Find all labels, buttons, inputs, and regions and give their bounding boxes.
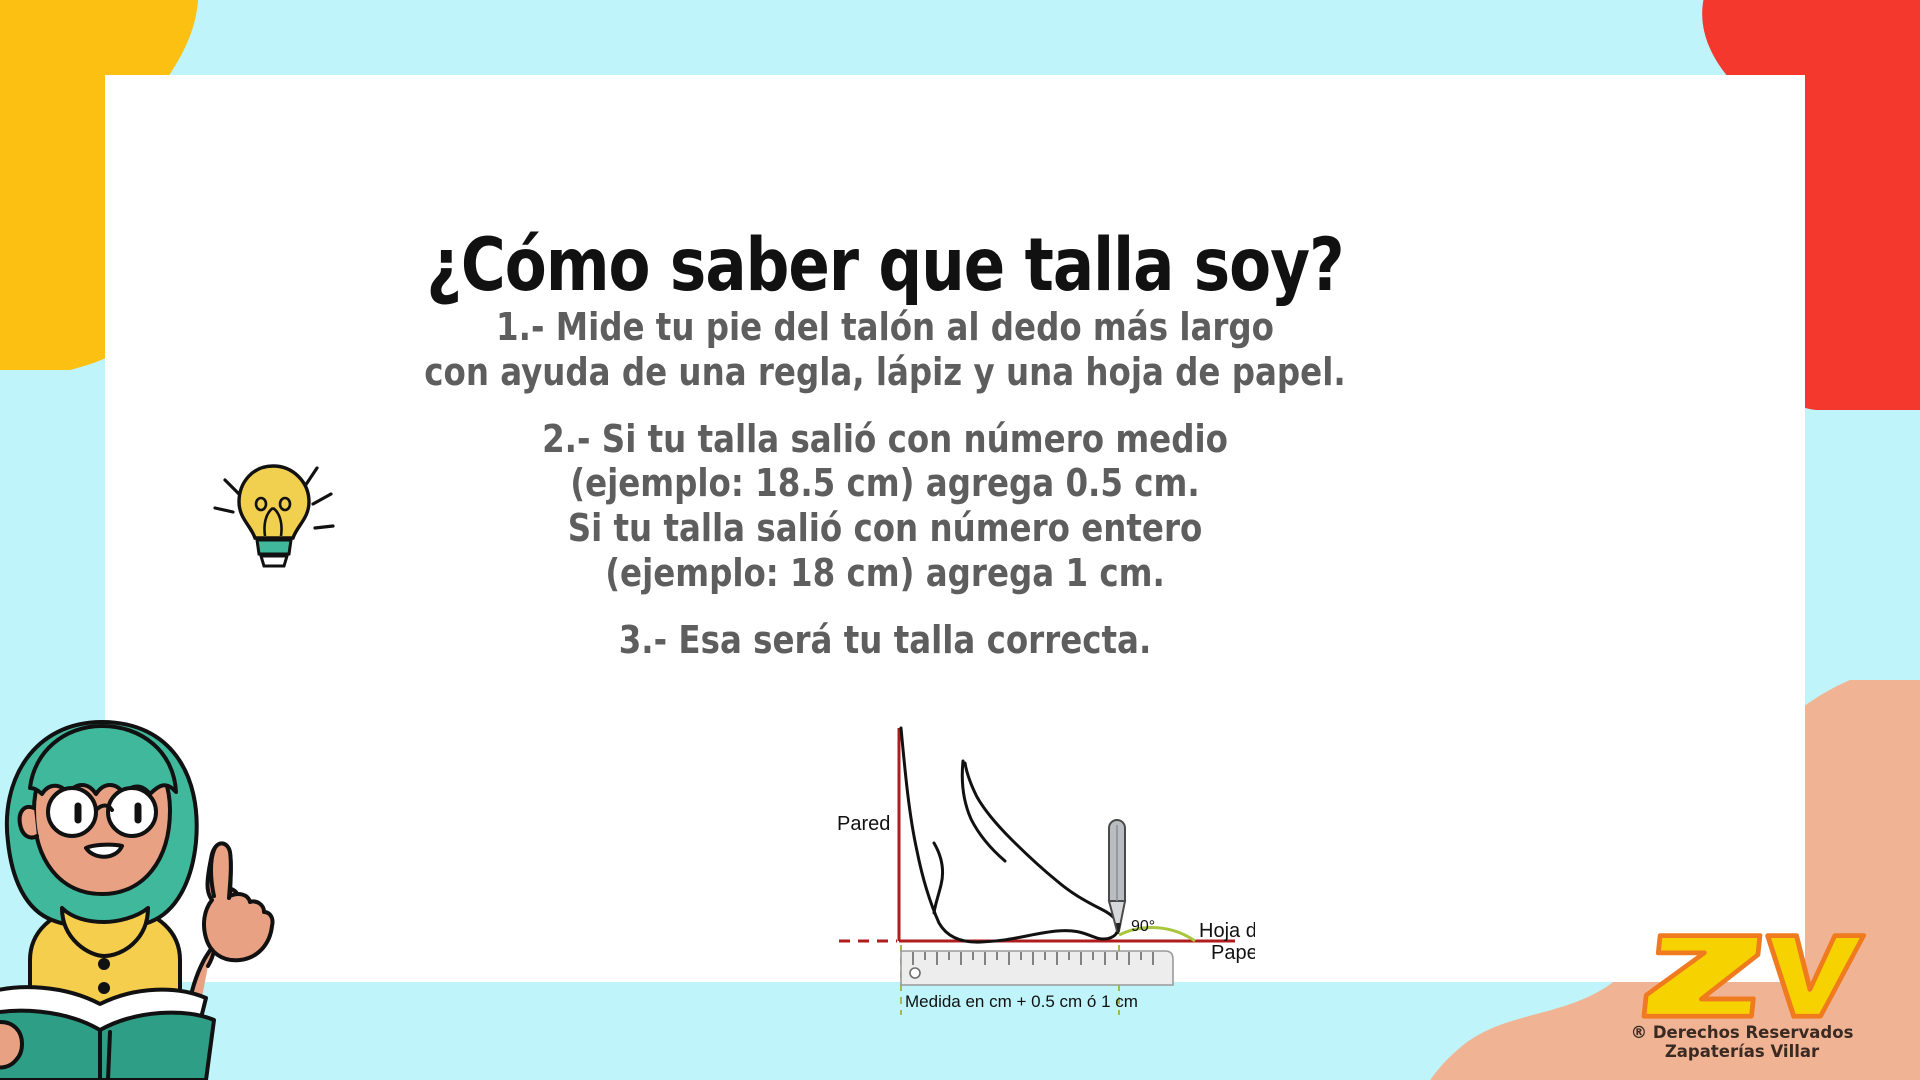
foot-arch-line (934, 843, 943, 913)
logo-copyright-line-2: Zapaterías Villar (1592, 1043, 1892, 1062)
slide-canvas: ¿Cómo saber que talla soy? 1.- Mide tu p… (0, 0, 1920, 1080)
ruler-caption: Medida en cm + 0.5 cm ó 1 cm (905, 992, 1138, 1011)
paper-label-line2: Papel (1211, 942, 1255, 964)
logo-copyright-line-1: ® Derechos Reservados (1592, 1024, 1892, 1043)
step-3-line-1: 3.- Esa será tu talla correcta. (144, 618, 1626, 663)
step-1: 1.- Mide tu pie del talón al dedo más la… (144, 305, 1626, 395)
logo-copyright-text: ® Derechos Reservados Zapaterías Villar (1592, 1024, 1892, 1062)
content-panel: ¿Cómo saber que talla soy? 1.- Mide tu p… (105, 75, 1805, 982)
page-title: ¿Cómo saber que talla soy? (160, 229, 1611, 302)
step-2-line-4: (ejemplo: 18 cm) agrega 1 cm. (144, 551, 1626, 596)
step-3: 3.- Esa será tu talla correcta. (144, 618, 1626, 663)
instruction-steps: 1.- Mide tu pie del talón al dedo más la… (144, 305, 1626, 685)
step-1-line-2: con ayuda de una regla, lápiz y una hoja… (144, 350, 1626, 395)
wall-label: Pared (837, 813, 890, 835)
angle-label: 90° (1131, 918, 1155, 935)
step-2-line-2: (ejemplo: 18.5 cm) agrega 0.5 cm. (144, 461, 1626, 506)
step-2: 2.- Si tu talla salió con número medio (… (144, 417, 1626, 596)
step-2-line-3: Si tu talla salió con número entero (144, 506, 1626, 551)
paper-label-line1: Hoja de (1199, 920, 1255, 942)
zv-logo-icon (1592, 926, 1880, 1022)
step-1-line-1: 1.- Mide tu pie del talón al dedo más la… (144, 305, 1626, 350)
lightbulb-icon (205, 450, 340, 585)
brand-logo: ® Derechos Reservados Zapaterías Villar (1592, 926, 1892, 1062)
foot-measurement-diagram: 90° Pared Hoja de Papel (835, 723, 1255, 1053)
step-2-line-1: 2.- Si tu talla salió con número medio (144, 417, 1626, 462)
ruler-icon (901, 951, 1173, 985)
girl-illustration (0, 660, 300, 1080)
